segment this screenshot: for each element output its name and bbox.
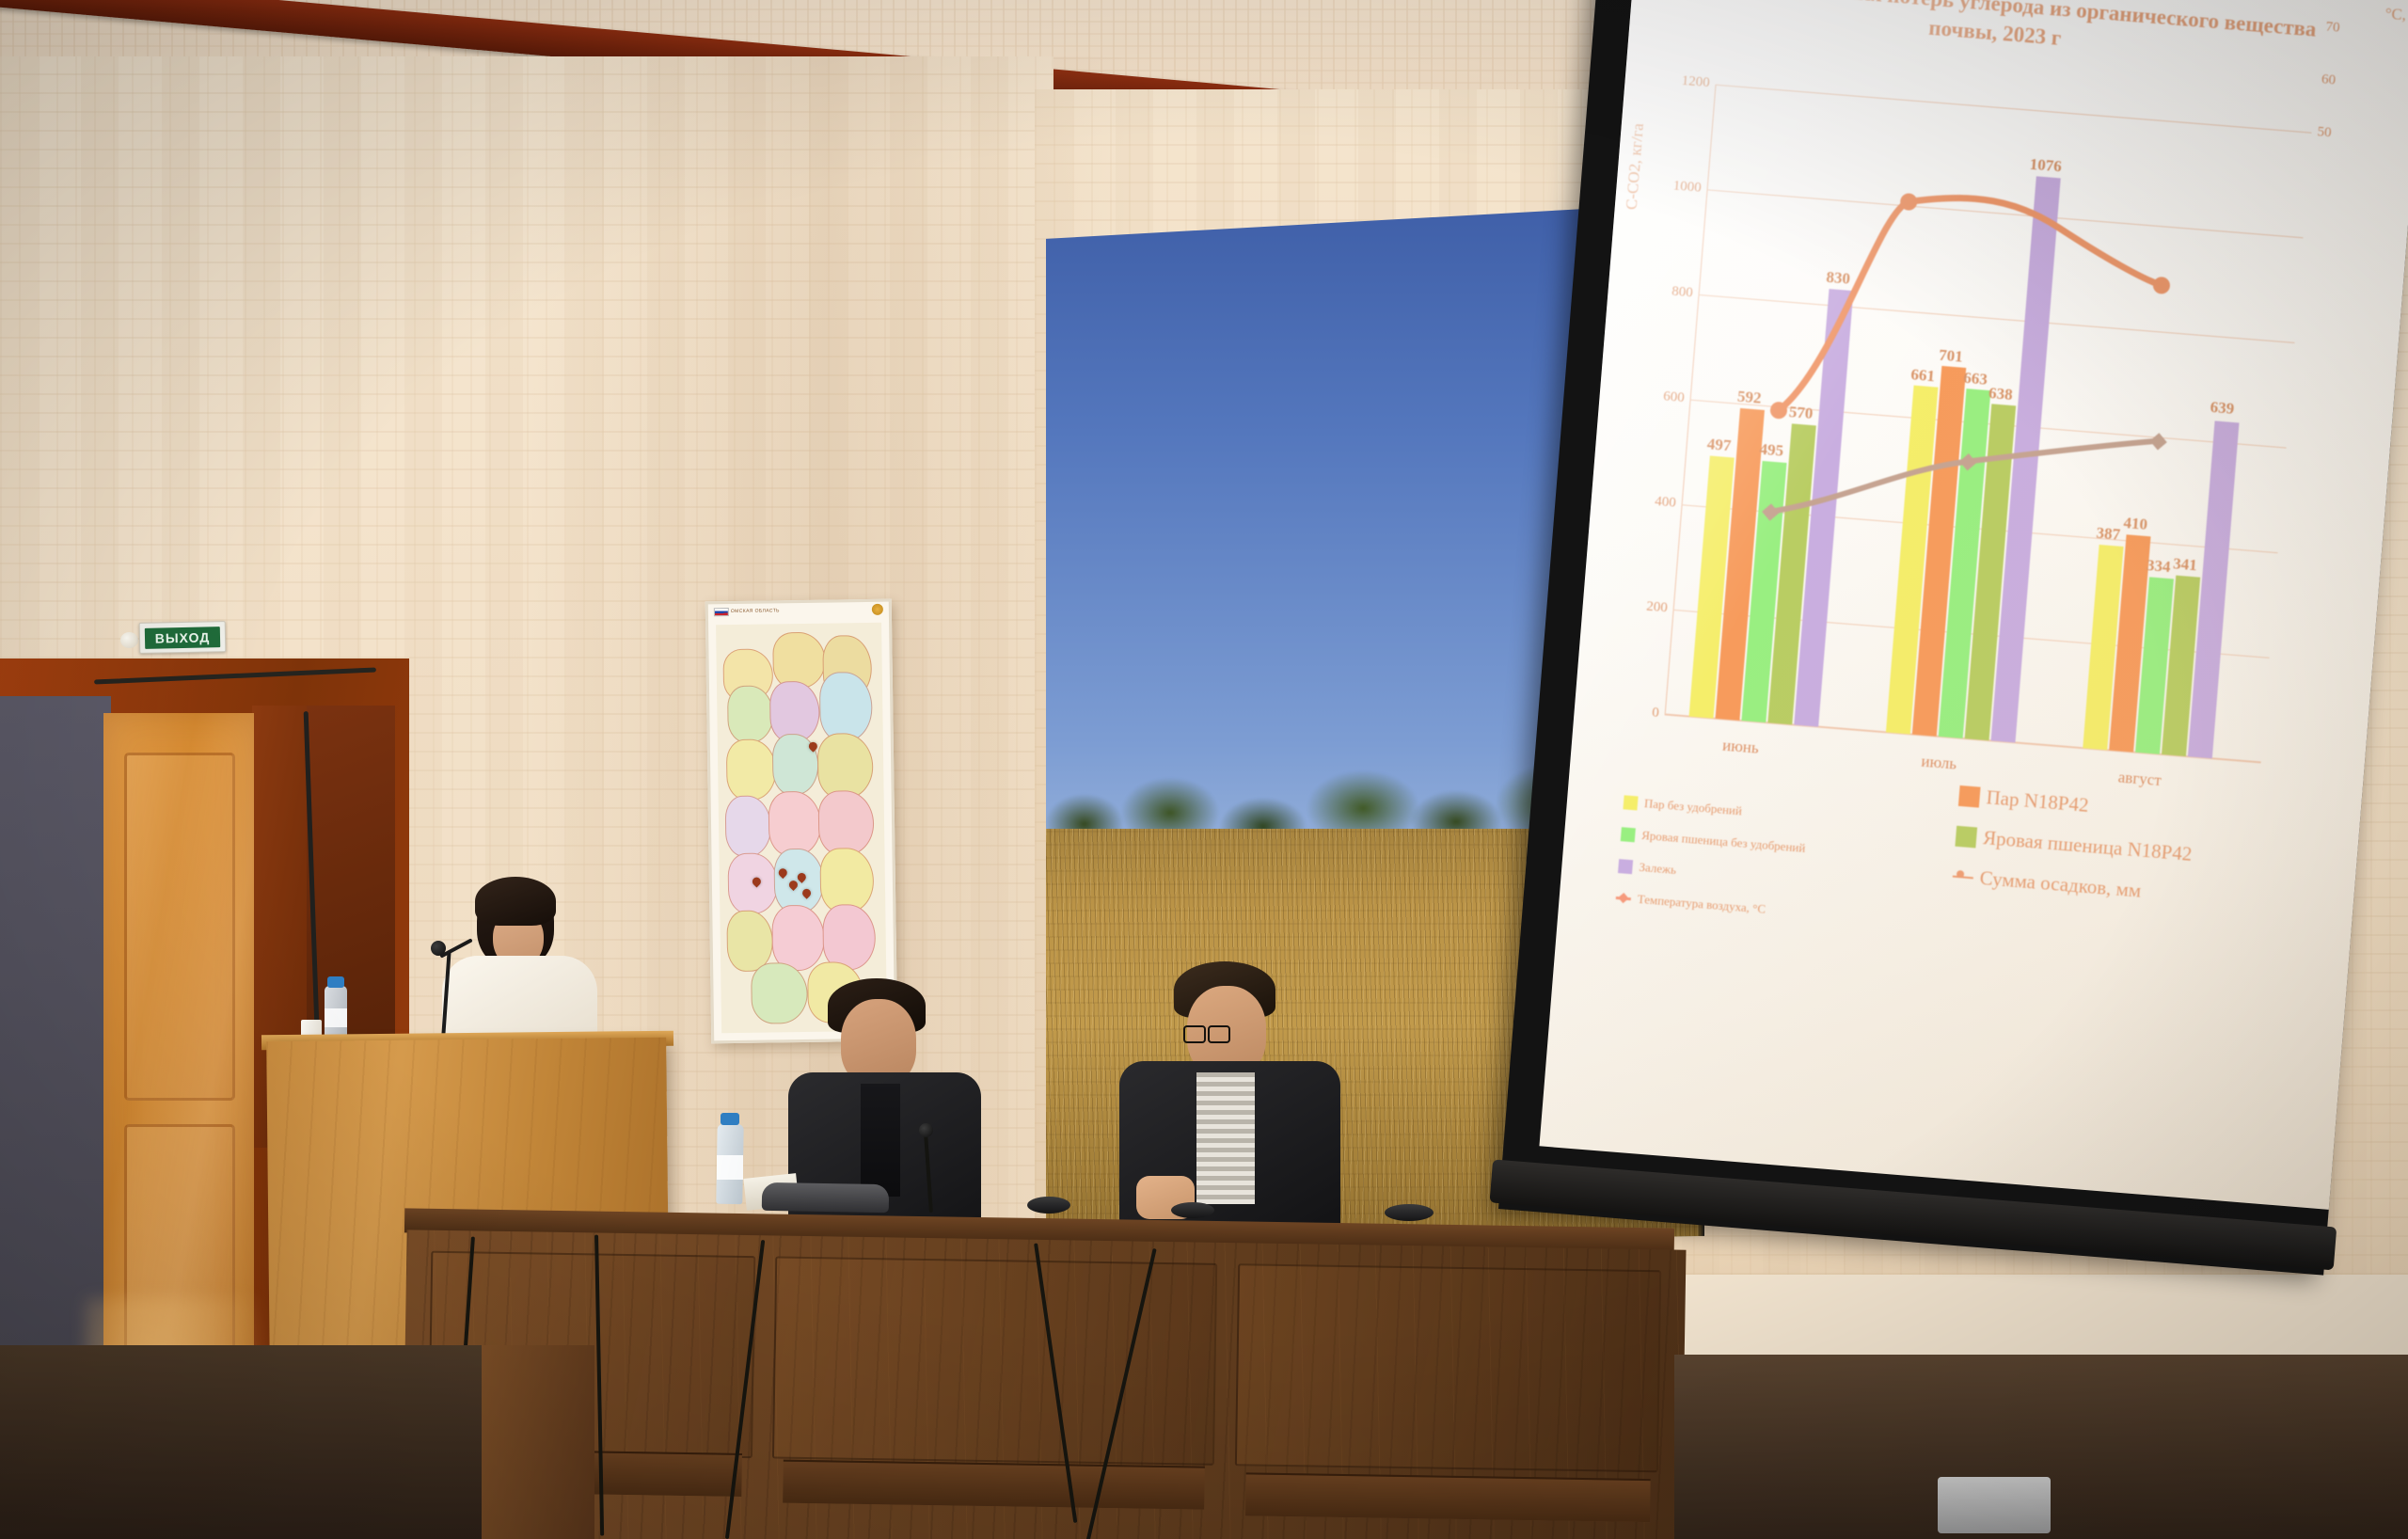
- legend-swatch-icon: [1621, 827, 1636, 842]
- projector-screen: Динамика месячных потерь углерода из орг…: [1494, 0, 2408, 1331]
- coat-of-arms-icon: [872, 604, 883, 615]
- legend-swatch-icon: [1958, 785, 1981, 807]
- map-region: [771, 905, 825, 971]
- exit-sign: ВЫХОД: [139, 621, 227, 654]
- conference-room-photo: ВЫХОД ОМСКАЯ ОБЛАСТЬ: [0, 0, 2408, 1539]
- legend-label: Пар без удобрений: [1643, 796, 1742, 818]
- exit-sign-label: ВЫХОД: [155, 629, 211, 645]
- screen-surface: Динамика месячных потерь углерода из орг…: [1539, 0, 2408, 1210]
- map-region: [726, 738, 777, 801]
- legend-column-right: Пар N18P42 Яровая пшеница N18P42 Сумма о…: [1950, 784, 2195, 924]
- exit-sign-plate: ВЫХОД: [145, 627, 220, 649]
- table-front-panel: [1235, 1263, 1661, 1472]
- x-tick-label: июль: [1921, 753, 1957, 774]
- legend-label: Яровая пшеница N18P42: [1982, 826, 2193, 866]
- microphone-icon: [431, 941, 446, 956]
- map-region: [817, 790, 875, 856]
- y-tick: 1200: [1666, 72, 1710, 92]
- legend-swatch-icon: [1955, 825, 1977, 848]
- line-marker: [2149, 433, 2166, 450]
- temperature-line: [1665, 85, 2312, 763]
- microphone-base: [1027, 1197, 1070, 1214]
- legend-marker-diamond-icon: [1615, 891, 1631, 905]
- map-region: [768, 791, 821, 857]
- legend-column-left: Пар без удобрений Яровая пшеница без удо…: [1614, 794, 1809, 936]
- glass-tray: [1938, 1477, 2051, 1533]
- legend-label: Температура воздуха, °C: [1637, 892, 1766, 917]
- map-title: ОМСКАЯ ОБЛАСТЬ: [731, 608, 780, 614]
- presidium-table: [402, 1230, 1686, 1539]
- legend-label: Сумма осадков, мм: [1979, 866, 2142, 903]
- x-tick-label: август: [2117, 768, 2162, 790]
- y-tick: 600: [1640, 387, 1685, 406]
- legend-label: Залежь: [1639, 860, 1677, 878]
- map-region: [822, 904, 876, 970]
- y-tick: 400: [1632, 492, 1676, 512]
- emergency-lamp-icon: [120, 632, 138, 648]
- map-region: [816, 733, 874, 799]
- map-region: [772, 631, 826, 690]
- map-region: [751, 962, 808, 1024]
- legend-swatch-icon: [1618, 859, 1633, 874]
- y2-tick: 50: [2317, 124, 2361, 144]
- panelist-left-shirt: [861, 1084, 900, 1197]
- door-panel-upper: [124, 753, 235, 1101]
- y-tick: 1000: [1657, 177, 1702, 197]
- legend-item: Температура воздуха, °C: [1615, 890, 1800, 920]
- speaker-hair: [475, 877, 556, 926]
- legend-label: Яровая пшеница без удобрений: [1641, 828, 1806, 856]
- floor-left: [0, 1345, 489, 1539]
- presentation-slide: Динамика месячных потерь углерода из орг…: [1539, 0, 2408, 1210]
- microphone-base: [1385, 1204, 1434, 1221]
- map-region: [727, 686, 774, 743]
- legend-item: Залежь: [1618, 858, 1803, 888]
- bottle-cap: [721, 1113, 739, 1125]
- line-marker: [1959, 453, 1976, 470]
- map-region: [820, 848, 874, 913]
- table-kick-plate: [1245, 1472, 1651, 1522]
- table-front-panel: [772, 1256, 1217, 1465]
- bottle-label: [325, 1008, 347, 1027]
- legend-label: Пар N18P42: [1986, 785, 2090, 817]
- bottle-cap: [327, 976, 344, 988]
- map-region: [725, 796, 772, 858]
- y-axis-label: C-CO2, кг/га: [1623, 12, 1657, 211]
- chart-legend: Пар без удобрений Яровая пшеница без удо…: [1627, 756, 2340, 814]
- microphone-base: [1171, 1202, 1214, 1218]
- y2-axis-label: °C, мм: [2384, 5, 2408, 27]
- y-tick: 0: [1615, 702, 1659, 722]
- line-marker: [1762, 503, 1779, 520]
- y2-tick: 60: [2321, 71, 2365, 91]
- legend-item: Сумма осадков, мм: [1952, 865, 2190, 907]
- chart-plot-area: 0 200 400 600 800 1000 1200 70 60: [1665, 85, 2312, 763]
- legend-item: Пар без удобрений: [1623, 794, 1808, 824]
- chair: [482, 1345, 594, 1539]
- x-tick-label: июнь: [1721, 737, 1759, 758]
- legend-marker-circle-icon: [1952, 867, 1973, 886]
- bottle-label: [717, 1155, 743, 1180]
- y-tick: 200: [1624, 597, 1668, 617]
- y-tick: 800: [1649, 282, 1693, 302]
- panelist-right-shirt: [1196, 1072, 1255, 1204]
- y2-tick: 70: [2325, 20, 2369, 40]
- wall-map: ОМСКАЯ ОБЛАСТЬ: [705, 599, 898, 1044]
- legend-item: Яровая пшеница N18P42: [1955, 824, 2193, 866]
- map-canvas: [716, 623, 887, 1033]
- flag-icon: [714, 608, 729, 616]
- laptop[interactable]: [762, 1182, 890, 1213]
- legend-item: Яровая пшеница без удобрений: [1621, 826, 1806, 856]
- legend-swatch-icon: [1623, 795, 1638, 810]
- microphone-icon: [919, 1123, 933, 1137]
- table-kick-plate: [783, 1460, 1205, 1510]
